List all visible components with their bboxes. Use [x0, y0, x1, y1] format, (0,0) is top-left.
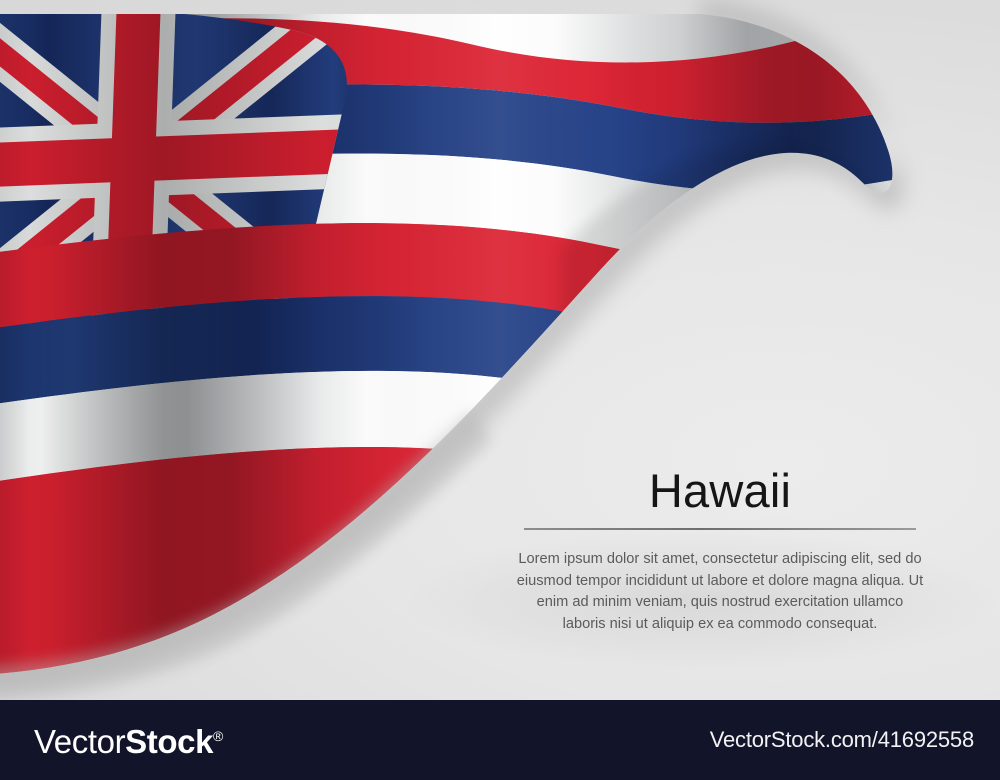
vectorstock-url: VectorStock.com/41692558	[710, 727, 974, 753]
title-divider	[524, 528, 916, 530]
body-text: Lorem ipsum dolor sit amet, consectetur …	[514, 549, 926, 635]
logo-word-stock: Stock	[125, 723, 213, 760]
page-title: Hawaii	[505, 462, 935, 520]
registered-trademark-icon: ®	[213, 728, 223, 744]
logo-word-vector: Vector	[34, 723, 125, 760]
caption-block: Hawaii Lorem ipsum dolor sit amet, conse…	[505, 462, 935, 635]
vectorstock-logo: VectorStock®	[34, 718, 223, 760]
image-canvas: Hawaii Lorem ipsum dolor sit amet, conse…	[0, 0, 1000, 780]
